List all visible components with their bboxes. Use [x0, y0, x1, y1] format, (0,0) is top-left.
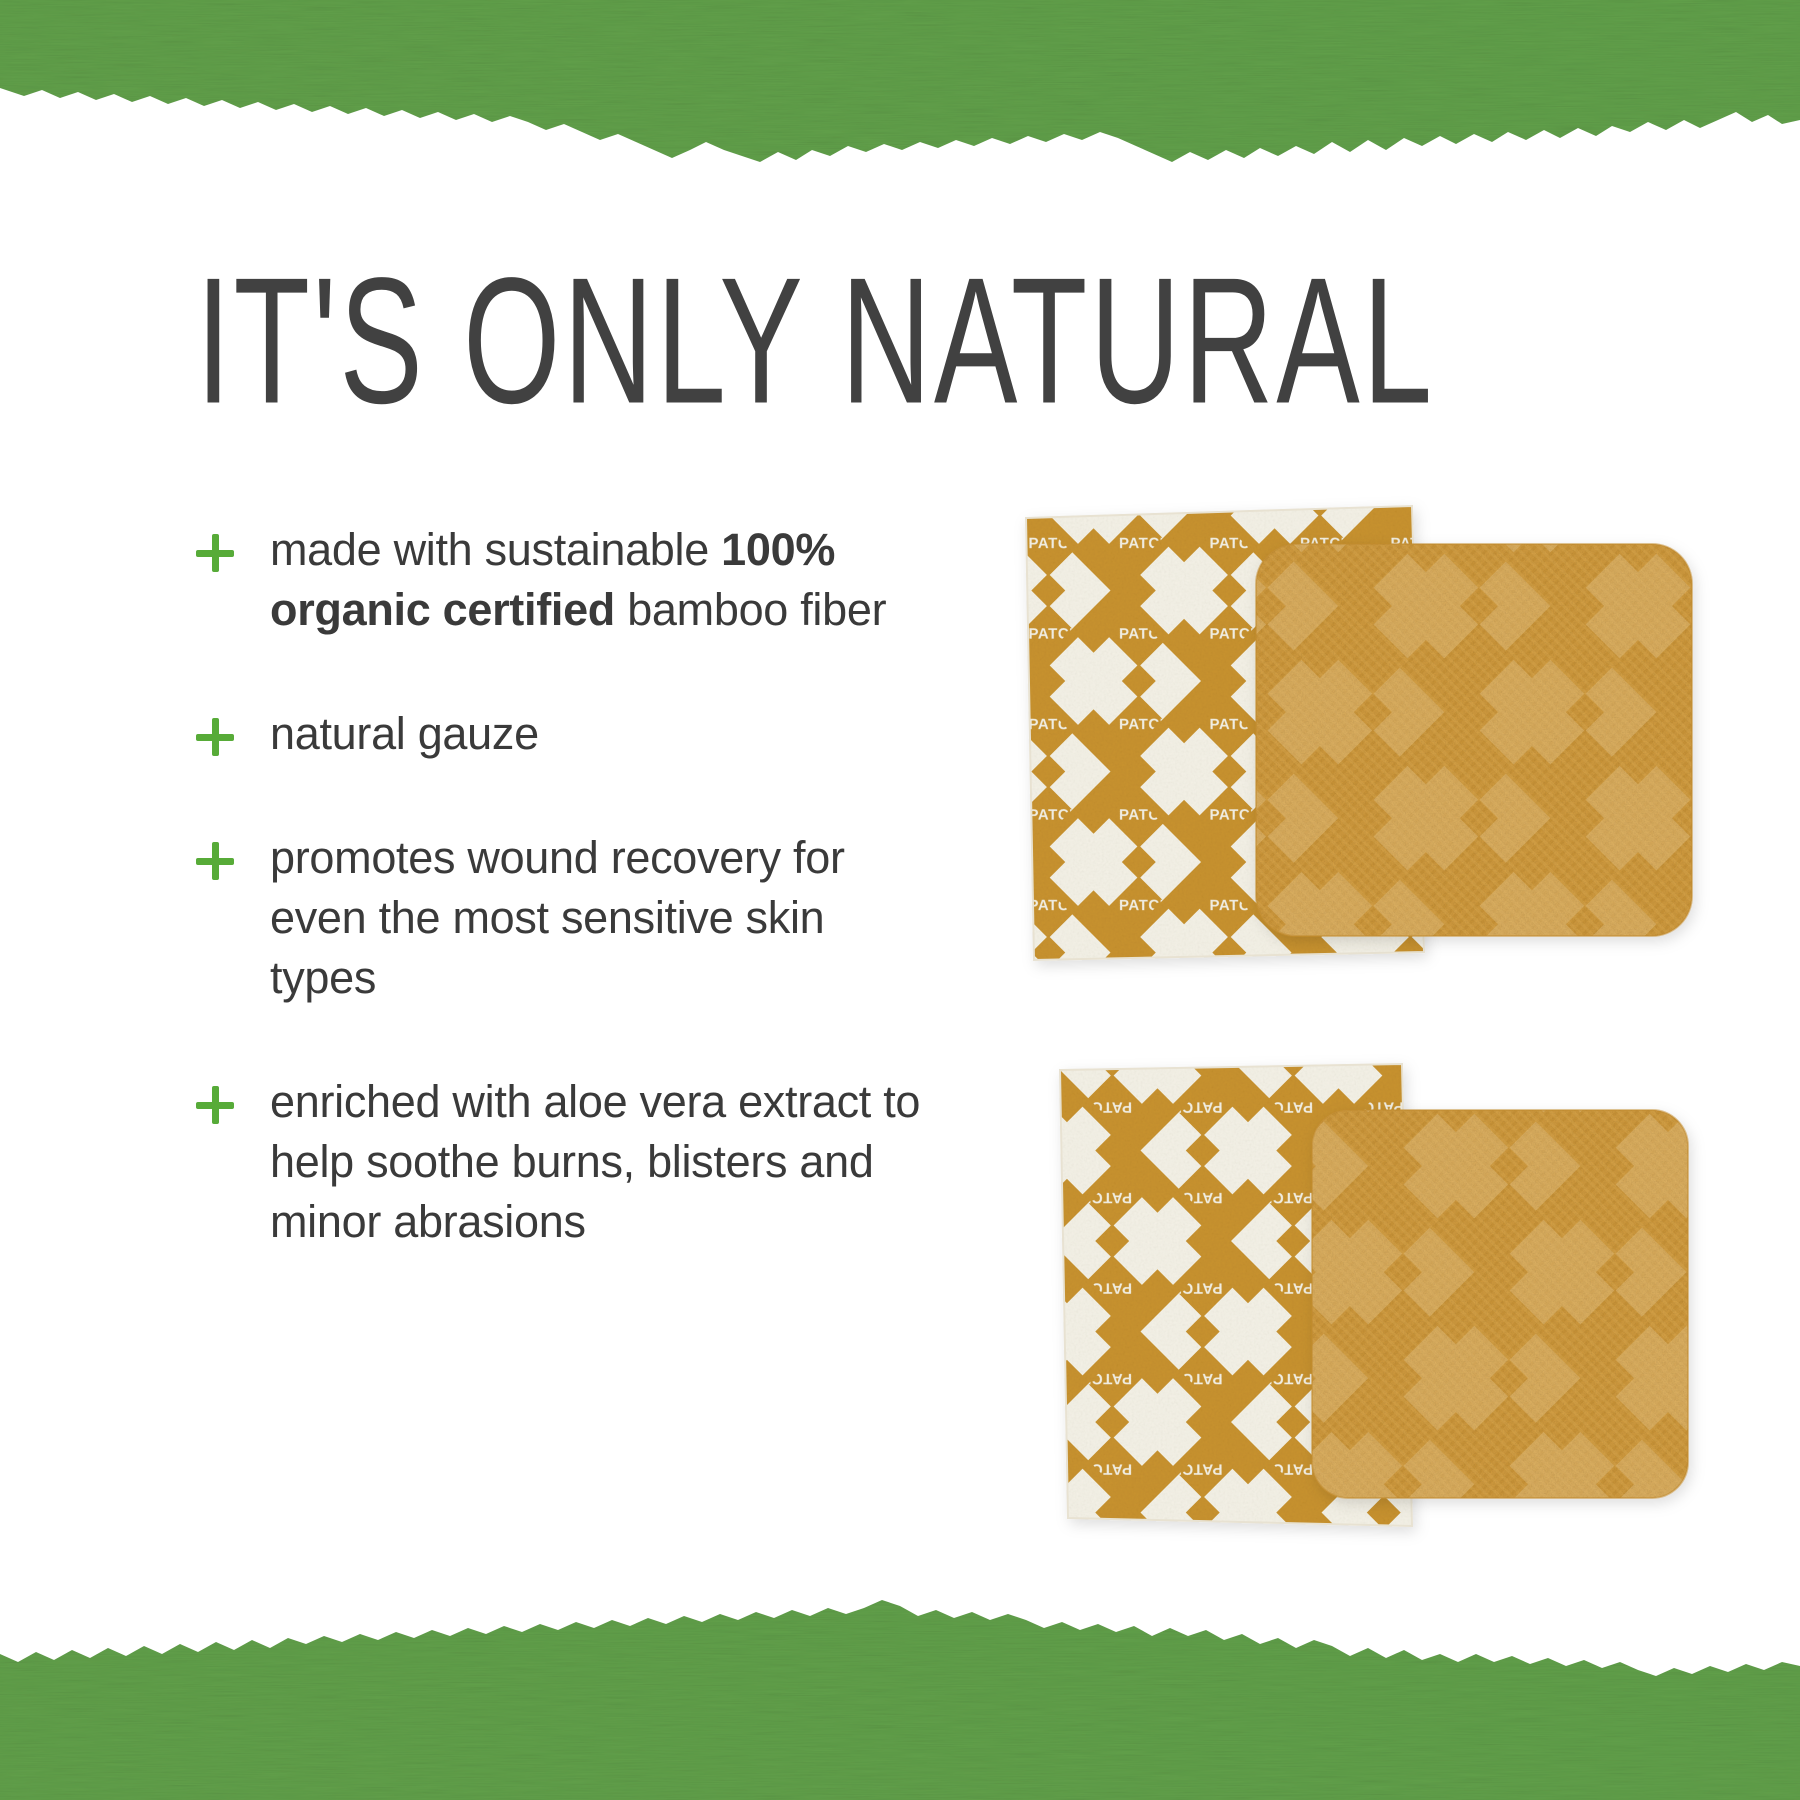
list-item-label: promotes wound recovery for even the mos… — [270, 828, 936, 1008]
torn-shape-bottom — [0, 1600, 1800, 1800]
list-item-label: natural gauze — [270, 704, 936, 764]
torn-edge-top-svg — [0, 0, 1800, 200]
product-image-square-bandages — [1020, 500, 1700, 960]
plus-icon — [196, 534, 234, 572]
list-item-tail: bamboo fiber — [615, 584, 886, 635]
torn-edge-bottom-svg — [0, 1570, 1800, 1800]
promo-panel: IT'S ONLY NATURAL made with sustainable … — [0, 0, 1800, 1800]
plus-icon — [196, 718, 234, 756]
list-item-label: made with sustainable 100% organic certi… — [270, 520, 936, 640]
list-item-label: enriched with aloe vera extract to help … — [270, 1072, 936, 1252]
torn-shape-top — [0, 0, 1800, 162]
bandage-square-gauze — [1256, 544, 1692, 936]
list-item: natural gauze — [196, 704, 936, 764]
torn-paper-band-bottom — [0, 1570, 1800, 1800]
plus-icon — [196, 1086, 234, 1124]
list-item-lead: made with sustainable — [270, 524, 721, 575]
feature-list: made with sustainable 100% organic certi… — [196, 520, 936, 1252]
list-item: promotes wound recovery for even the mos… — [196, 828, 936, 1008]
plus-icon — [196, 842, 234, 880]
page-title: IT'S ONLY NATURAL — [196, 248, 1300, 446]
bandage-rectangular-gauze — [1312, 1110, 1688, 1498]
product-image-rectangular-bandages — [1050, 1060, 1700, 1530]
list-item: made with sustainable 100% organic certi… — [196, 520, 936, 640]
list-item: enriched with aloe vera extract to help … — [196, 1072, 936, 1252]
torn-paper-band-top — [0, 0, 1800, 200]
